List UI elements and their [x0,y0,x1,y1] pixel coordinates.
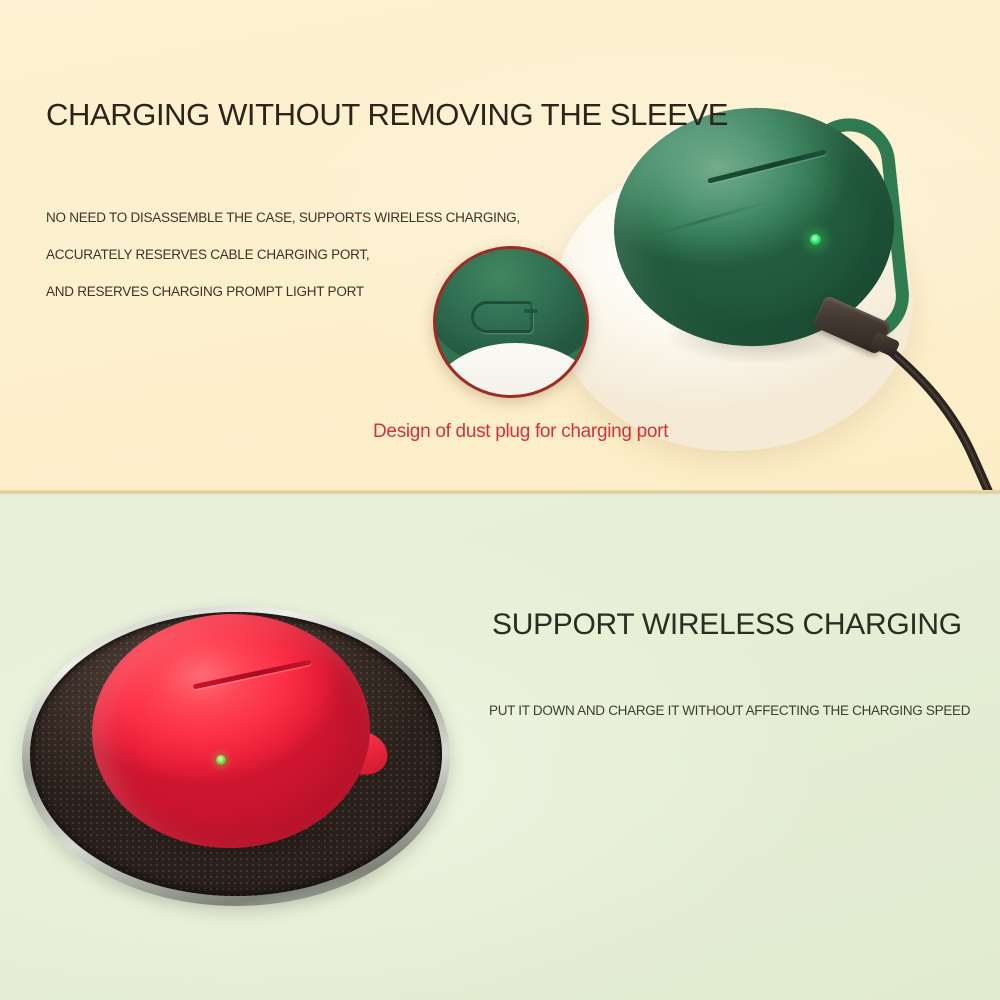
body-line-3: AND RESERVES CHARGING PROMPT LIGHT PORT [46,284,520,299]
top-panel-title: CHARGING WITHOUT REMOVING THE SLEEVE [46,99,728,132]
top-panel-body: NO NEED TO DISASSEMBLE THE CASE, SUPPORT… [46,210,520,321]
body-line-1: NO NEED TO DISASSEMBLE THE CASE, SUPPORT… [46,210,520,225]
product-infographic: CHARGING WITHOUT REMOVING THE SLEEVE NO … [0,0,1000,1000]
charging-led-indicator [810,234,821,245]
body-line-2: ACCURATELY RESERVES CABLE CHARGING PORT, [46,247,520,262]
red-earbud-case [92,614,392,862]
dust-plug-tab [524,309,538,313]
dust-plug-caption: Design of dust plug for charging port [373,421,668,443]
bottom-panel-title: SUPPORT WIRELESS CHARGING [492,608,962,642]
charging-led-indicator [216,755,226,765]
bottom-panel-subtitle: PUT IT DOWN AND CHARGE IT WITHOUT AFFECT… [489,703,970,718]
